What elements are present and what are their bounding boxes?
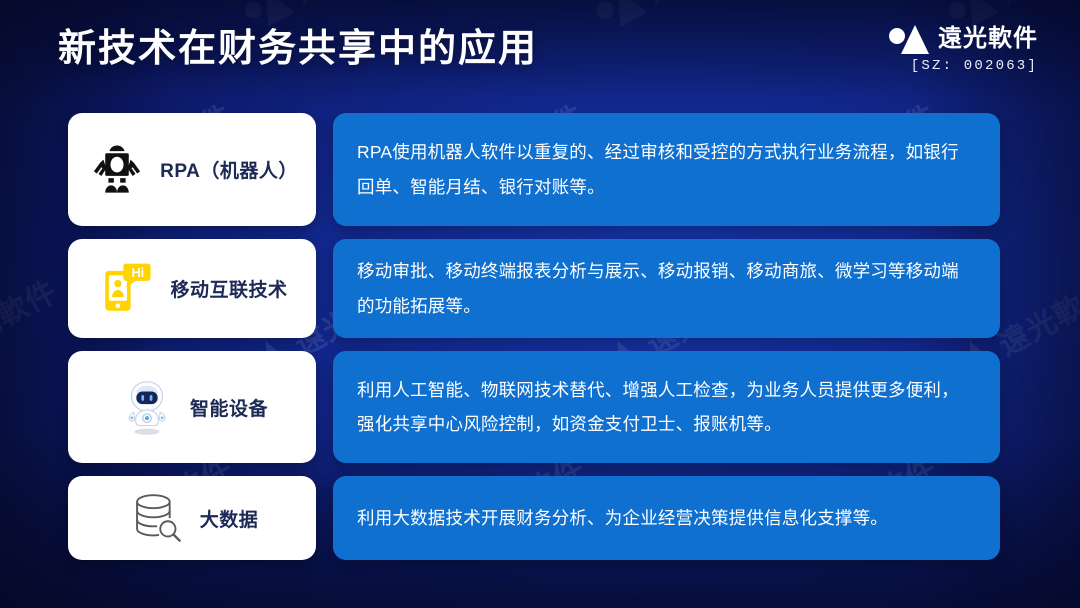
label-text: 智能设备 [190, 394, 268, 421]
slide-header: 新技术在财务共享中的应用 遠光軟件 [SZ: 002063] [0, 0, 1080, 92]
description-panel-rpa: RPA使用机器人软件以重复的、经过审核和受控的方式执行业务流程，如银行回单、智能… [333, 113, 1000, 226]
mobile-phone-chat-icon: Hi [96, 258, 158, 320]
smart-robot-mascot-icon [116, 376, 178, 438]
page-title: 新技术在财务共享中的应用 [58, 17, 538, 72]
description-panel-big-data: 利用大数据技术开展财务分析、为企业经营决策提供信息化支撑等。 [333, 476, 1000, 560]
description-panel-smart-device: 利用人工智能、物联网技术替代、增强人工检查，为业务人员提供更多便利，强化共享中心… [333, 351, 1000, 463]
label-card-mobile[interactable]: Hi 移动互联技术 [68, 239, 316, 338]
brand-name: 遠光軟件 [938, 24, 1038, 54]
label-card-big-data[interactable]: 大数据 [68, 476, 316, 560]
yuanguang-logo-icon [889, 24, 929, 54]
label-text: 大数据 [200, 505, 259, 532]
brand-row: 遠光軟件 [889, 24, 1038, 54]
label-card-smart-device[interactable]: 智能设备 [68, 351, 316, 463]
label-text: 移动互联技术 [170, 275, 287, 302]
description-text: 移动审批、移动终端报表分析与展示、移动报销、移动商旅、微学习等移动端的功能拓展等… [357, 254, 976, 322]
robot-silhouette-icon [86, 139, 148, 201]
database-search-icon [126, 487, 188, 549]
slide-canvas: 遠光軟件遠光軟件遠光軟件遠光軟件遠光軟件遠光軟件遠光軟件遠光軟件遠光軟件遠光軟件… [0, 0, 1080, 608]
brand-block: 遠光軟件 [SZ: 002063] [889, 24, 1038, 74]
content-row: Hi 移动互联技术 移动审批、移动终端报表分析与展示、移动报销、移动商旅、微学习… [68, 239, 1000, 338]
description-text: 利用大数据技术开展财务分析、为企业经营决策提供信息化支撑等。 [357, 504, 976, 532]
description-panel-mobile: 移动审批、移动终端报表分析与展示、移动报销、移动商旅、微学习等移动端的功能拓展等… [333, 239, 1000, 338]
content-row: 大数据 利用大数据技术开展财务分析、为企业经营决策提供信息化支撑等。 [68, 476, 1000, 560]
label-card-rpa[interactable]: RPA（机器人） [68, 113, 316, 226]
svg-text:Hi: Hi [132, 265, 145, 279]
description-text: RPA使用机器人软件以重复的、经过审核和受控的方式执行业务流程，如银行回单、智能… [357, 135, 976, 203]
content-row: RPA（机器人） RPA使用机器人软件以重复的、经过审核和受控的方式执行业务流程… [68, 113, 1000, 226]
stock-code: [SZ: 002063] [889, 58, 1038, 74]
content-row: 智能设备 利用人工智能、物联网技术替代、增强人工检查，为业务人员提供更多便利，强… [68, 351, 1000, 463]
description-text: 利用人工智能、物联网技术替代、增强人工检查，为业务人员提供更多便利，强化共享中心… [357, 373, 976, 441]
label-text: RPA（机器人） [160, 156, 298, 183]
